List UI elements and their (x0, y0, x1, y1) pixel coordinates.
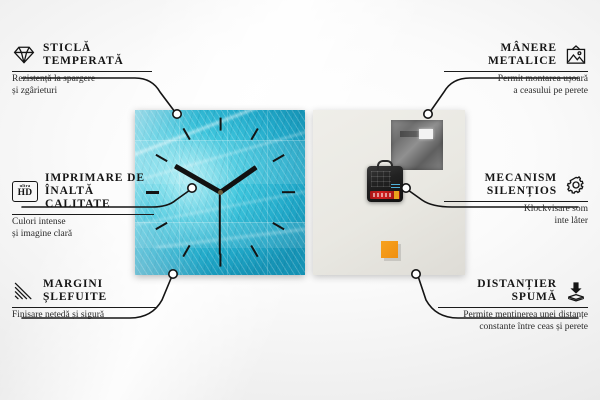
callout-title: MARGINI ȘLEFUITE (43, 278, 107, 304)
product-images (135, 110, 465, 275)
diamond-icon (12, 44, 36, 66)
callout-title: MECANISM SILENȚIOS (485, 172, 557, 198)
callout-rule (438, 307, 588, 308)
callout-rule (444, 71, 588, 72)
callout-high-quality-print: ultra HD IMPRIMARE DE ÎNALTĂ CALITATE Cu… (12, 172, 154, 240)
callout-tempered-glass: STICLĂ TEMPERATĂ Rezistență la spargere … (12, 42, 152, 97)
callout-title: DISTANȚIER SPUMĂ (477, 278, 557, 304)
callout-title: MÂNERE METALICE (488, 42, 557, 68)
callout-foam-spacer: DISTANȚIER SPUMĂ Permite menținerea unei… (438, 278, 588, 333)
metal-hanger-plate (391, 120, 443, 170)
callout-rule (12, 307, 157, 308)
clock-tick (219, 118, 221, 131)
callout-subtitle: Permite menținerea unei distanțe constan… (438, 310, 588, 333)
foam-spacer-pad (381, 241, 398, 258)
callout-polished-edges: MARGINI ȘLEFUITE Finisare netedă și sigu… (12, 278, 157, 322)
down-arrow-stack-icon (564, 280, 588, 302)
callout-subtitle: Finisare netedă și sigură (12, 310, 157, 322)
ultra-hd-icon-main: HD (18, 189, 33, 199)
callout-subtitle: Culori intense și imagine clară (12, 217, 154, 240)
callout-title: IMPRIMARE DE ÎNALTĂ CALITATE (45, 172, 154, 211)
clock-back-view (313, 110, 465, 275)
beveled-edge-icon (12, 280, 36, 302)
clock-tick (219, 254, 221, 267)
callout-rule (12, 71, 152, 72)
ultra-hd-icon: ultra HD (12, 181, 38, 202)
callout-subtitle: Rezistență la spargere și zgârieturi (12, 74, 152, 97)
gear-icon (564, 174, 588, 196)
picture-hanger-icon (564, 44, 588, 66)
callout-metal-hangers: MÂNERE METALICE Permit montarea ușoară a… (444, 42, 588, 97)
infographic-canvas: STICLĂ TEMPERATĂ Rezistență la spargere … (0, 0, 600, 400)
clock-front-view (135, 110, 305, 275)
callout-silent-mechanism: MECANISM SILENȚIOS Klockvisare som inte … (444, 172, 588, 227)
callout-title: STICLĂ TEMPERATĂ (43, 42, 124, 68)
callout-subtitle: Permit montarea ușoară a ceasului pe per… (444, 74, 588, 97)
clock-mechanism (367, 166, 403, 202)
callout-subtitle: Klockvisare som inte låter (444, 204, 588, 227)
second-hand (219, 193, 221, 255)
callout-rule (444, 201, 588, 202)
clock-pivot (218, 190, 223, 195)
battery (370, 191, 400, 199)
callout-rule (12, 214, 154, 215)
